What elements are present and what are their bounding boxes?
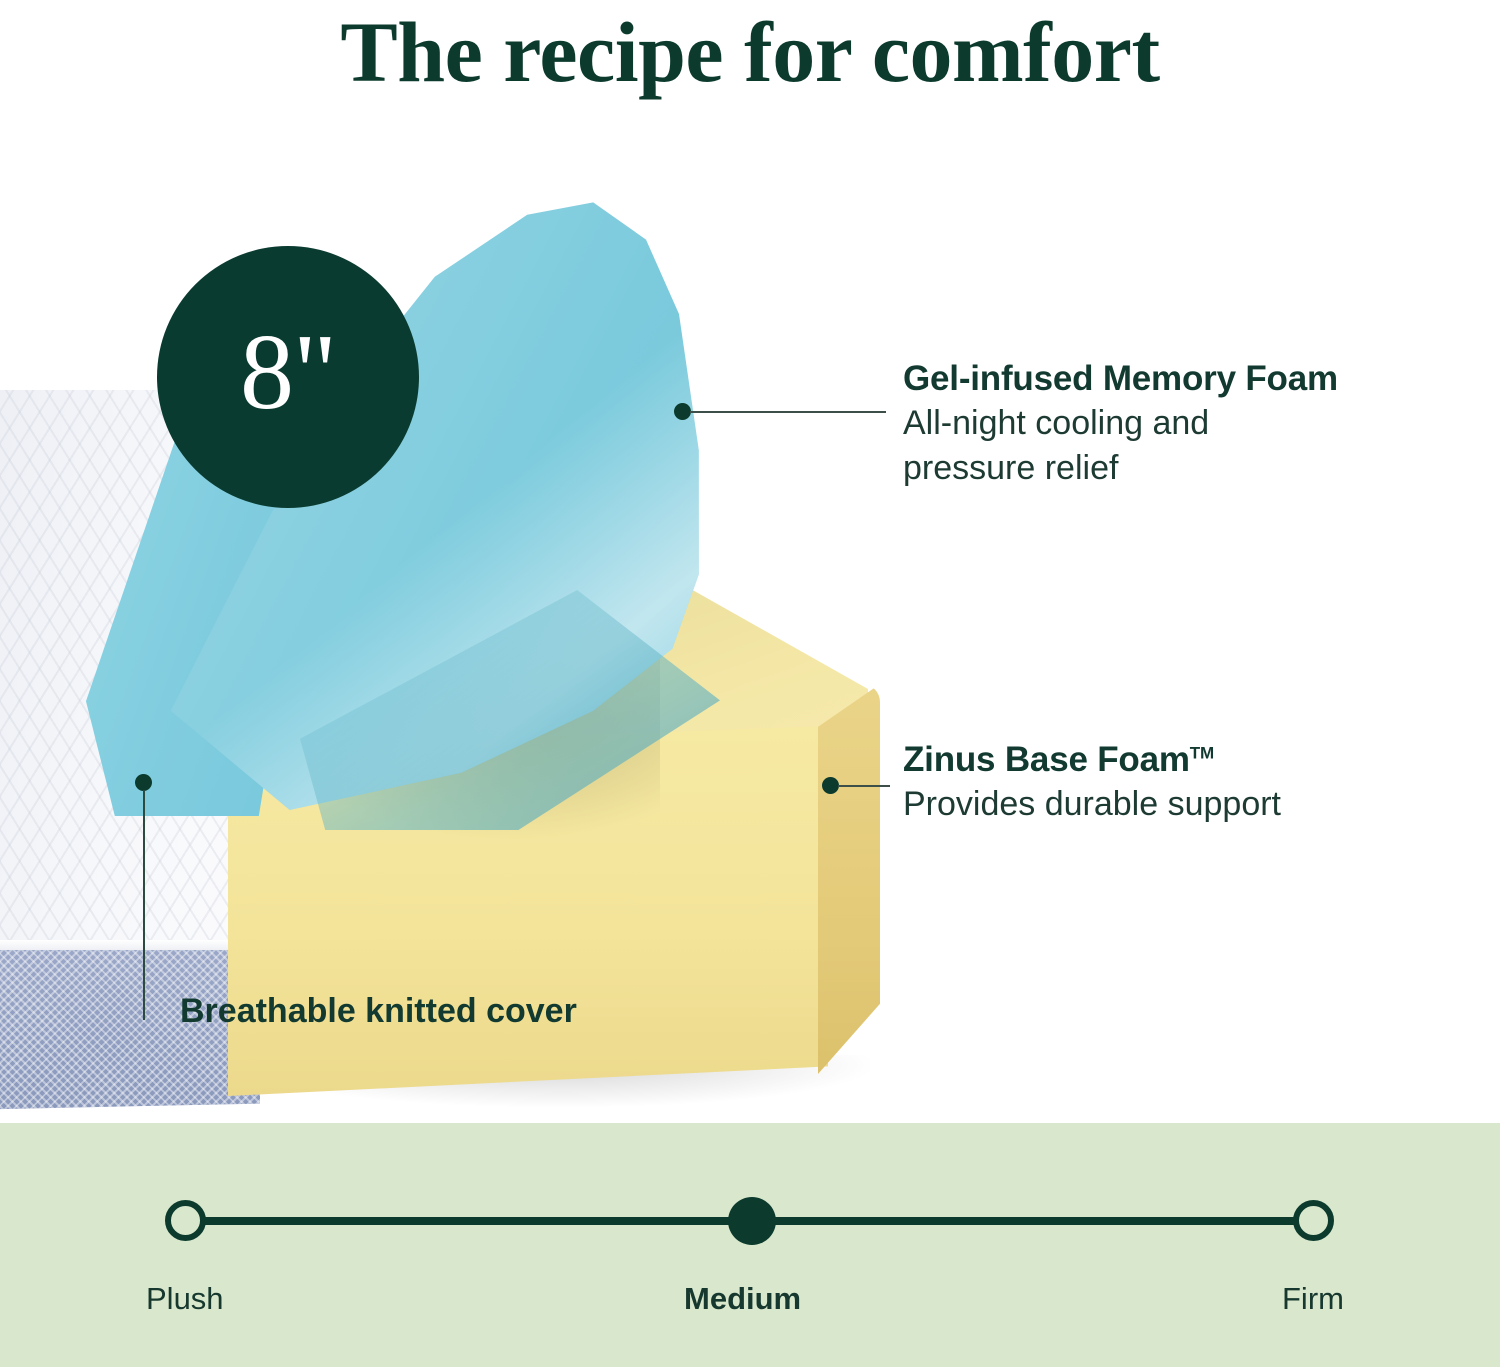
callout-dot-knitted-cover (135, 774, 152, 791)
callout-gel-foam-body-line2: pressure relief (903, 446, 1463, 491)
firmness-scale-band: Plush Medium Firm (0, 1123, 1500, 1367)
thickness-badge-label: 8" (240, 319, 336, 427)
callout-dot-base-foam (822, 777, 839, 794)
callout-leader-base-foam (838, 785, 890, 787)
firmness-label-medium: Medium (684, 1280, 801, 1318)
page-title: The recipe for comfort (0, 2, 1500, 102)
callout-leader-knitted-cover (143, 790, 145, 1020)
callout-base-foam-title-text: Zinus Base Foam (903, 740, 1190, 779)
callout-gel-foam: Gel-infused Memory Foam All-night coolin… (903, 357, 1463, 491)
callout-base-foam-body: Provides durable support (903, 782, 1463, 827)
callout-dot-gel-foam (674, 403, 691, 420)
callout-leader-gel-foam (690, 411, 886, 413)
firmness-label-firm: Firm (1282, 1280, 1344, 1318)
trademark-symbol: TM (1190, 743, 1214, 762)
callout-gel-foam-body-line1: All-night cooling and (903, 401, 1463, 446)
firmness-node-plush[interactable] (165, 1200, 206, 1241)
callout-base-foam: Zinus Base FoamTM Provides durable suppo… (903, 738, 1463, 827)
callout-gel-foam-title: Gel-infused Memory Foam (903, 357, 1463, 401)
product-infographic: The recipe for comfort 8" Gel-infused Me… (0, 0, 1500, 1367)
firmness-label-plush: Plush (146, 1280, 224, 1318)
callout-base-foam-title: Zinus Base FoamTM (903, 738, 1463, 782)
thickness-badge: 8" (157, 246, 419, 508)
callout-knitted-cover-title: Breathable knitted cover (180, 990, 577, 1032)
firmness-node-medium[interactable] (728, 1197, 776, 1245)
firmness-node-firm[interactable] (1293, 1200, 1334, 1241)
base-foam-right-face (818, 684, 880, 1074)
